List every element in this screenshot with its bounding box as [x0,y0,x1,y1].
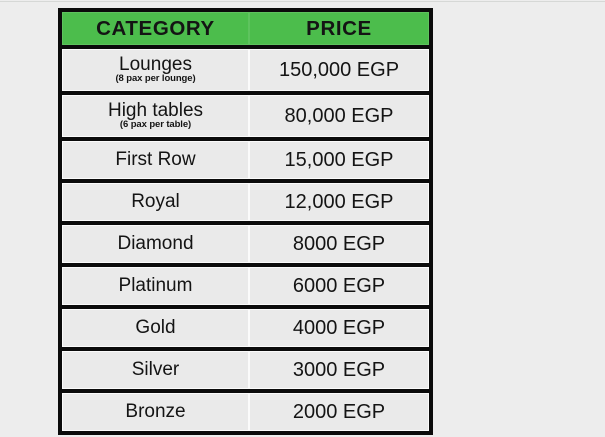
price-label: 80,000 EGP [249,106,429,127]
cell-category: Bronze [62,393,249,431]
price-label: 3000 EGP [249,360,429,381]
cell-price: 12,000 EGP [249,183,429,221]
price-label: 2000 EGP [249,402,429,423]
category-label: Bronze [62,402,249,422]
category-label: Royal [62,192,249,212]
table-row[interactable]: Lounges(8 pax per lounge)150,000 EGP [62,49,429,91]
table-row[interactable]: Silver3000 EGP [62,351,429,389]
price-label: 6000 EGP [249,276,429,297]
table-row[interactable]: Royal12,000 EGP [62,183,429,221]
cell-category: First Row [62,141,249,179]
table-row[interactable]: Platinum6000 EGP [62,267,429,305]
cell-category: Silver [62,351,249,389]
table-header-row: CATEGORY PRICE [62,12,429,45]
cell-price: 8000 EGP [249,225,429,263]
table-row[interactable]: High tables(6 pax per table)80,000 EGP [62,95,429,137]
cell-category: High tables(6 pax per table) [62,95,249,137]
column-header-category: CATEGORY [62,12,249,45]
category-sublabel: (8 pax per lounge) [62,74,249,84]
table-row[interactable]: First Row15,000 EGP [62,141,429,179]
table-row[interactable]: Gold4000 EGP [62,309,429,347]
table-header: CATEGORY PRICE [62,12,429,45]
category-label: Gold [62,318,249,338]
table-row[interactable]: Bronze2000 EGP [62,393,429,431]
cell-price: 3000 EGP [249,351,429,389]
cell-price: 2000 EGP [249,393,429,431]
cell-category: Lounges(8 pax per lounge) [62,49,249,91]
category-label: First Row [62,150,249,170]
price-label: 150,000 EGP [249,60,429,81]
cell-category: Royal [62,183,249,221]
category-label: High tables [62,101,249,121]
category-sublabel: (6 pax per table) [62,120,249,130]
column-header-price: PRICE [249,12,429,45]
price-label: 4000 EGP [249,318,429,339]
table-row[interactable]: Diamond8000 EGP [62,225,429,263]
cell-price: 6000 EGP [249,267,429,305]
cell-price: 80,000 EGP [249,95,429,137]
pricing-table: CATEGORY PRICE Lounges(8 pax per lounge)… [58,8,433,435]
cell-price: 15,000 EGP [249,141,429,179]
price-label: 12,000 EGP [249,192,429,213]
price-label: 15,000 EGP [249,150,429,171]
price-label: 8000 EGP [249,234,429,255]
cell-category: Platinum [62,267,249,305]
cell-category: Gold [62,309,249,347]
cell-category: Diamond [62,225,249,263]
cell-price: 4000 EGP [249,309,429,347]
table-body: Lounges(8 pax per lounge)150,000 EGPHigh… [62,45,429,431]
category-label: Diamond [62,234,249,254]
category-label: Lounges [62,55,249,75]
cell-price: 150,000 EGP [249,49,429,91]
top-hairline [0,1,605,2]
category-label: Silver [62,360,249,380]
category-label: Platinum [62,276,249,296]
